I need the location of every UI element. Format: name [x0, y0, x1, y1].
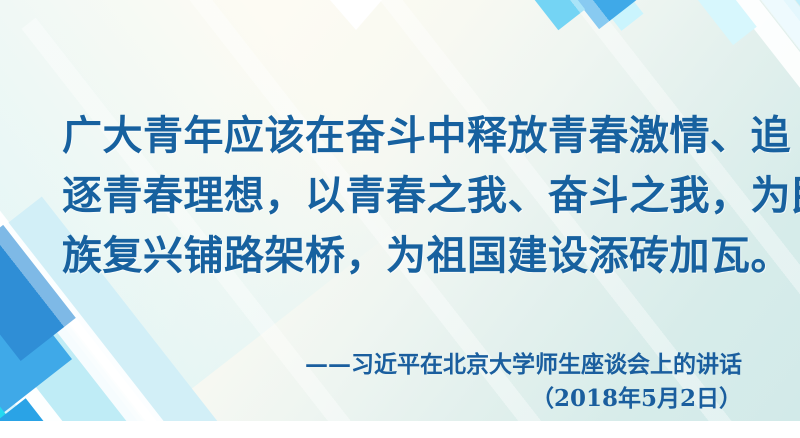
decor-quad-cyan-left [530, 0, 585, 30]
attribution-source: ——习近平在北京大学师生座谈会上的讲话 [305, 348, 742, 382]
bottom-white-strip [0, 421, 800, 438]
quote-line-3: 族复兴铺路架桥，为祖国建设添砖加瓦。 [62, 226, 752, 286]
quote-line-2: 逐青春理想，以青春之我、奋斗之我，为民 [62, 166, 752, 226]
attribution-date: （2018年5月2日） [305, 382, 742, 416]
quote-text-block: 广大青年应该在奋斗中释放青春激情、追 逐青春理想，以青春之我、奋斗之我，为民 族… [62, 106, 752, 286]
attribution-block: ——习近平在北京大学师生座谈会上的讲话 （2018年5月2日） [305, 348, 742, 416]
quote-line-1: 广大青年应该在奋斗中释放青春激情、追 [62, 106, 752, 166]
top-notch-triangle [330, 0, 382, 30]
quote-poster: 广大青年应该在奋斗中释放青春激情、追 逐青春理想，以青春之我、奋斗之我，为民 族… [0, 0, 800, 438]
